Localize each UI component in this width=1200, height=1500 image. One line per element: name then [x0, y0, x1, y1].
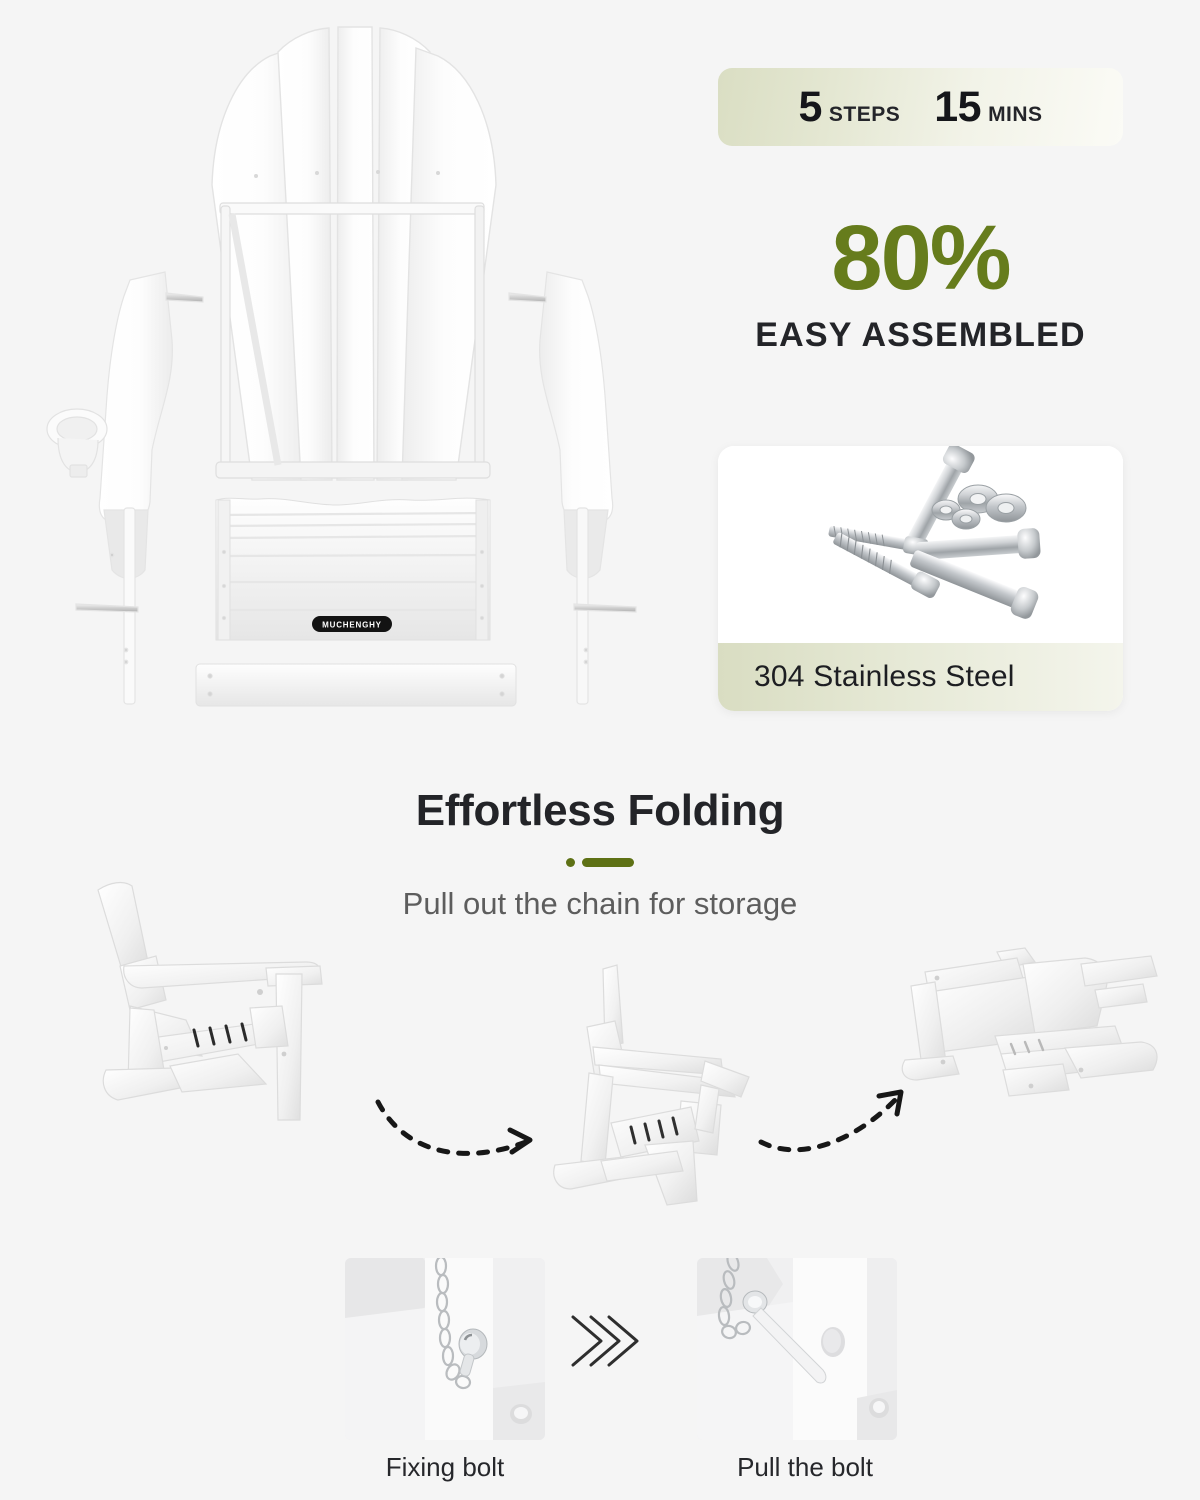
mins-group: 15 MINS — [934, 83, 1042, 132]
chair-right-arm-panel — [509, 272, 636, 704]
chevrons-right-icon — [557, 1305, 647, 1377]
folding-stage-folded-flat — [885, 930, 1175, 1110]
folding-stage-assembled — [70, 870, 390, 1140]
mins-unit: MINS — [988, 103, 1043, 127]
percent-caption: EASY ASSEMBLED — [718, 316, 1123, 355]
steps-value: 5 — [798, 83, 821, 132]
exploded-chair-diagram: MUCHENGHY — [20, 10, 680, 740]
cup-holder-ring — [47, 409, 107, 477]
screw-hole — [869, 1398, 889, 1418]
steps-group: 5 STEPS — [798, 83, 900, 132]
brand-label-pill: MUCHENGHY — [312, 616, 392, 632]
steel-caption: 304 Stainless Steel — [718, 643, 1123, 711]
detail-label-pull-the-bolt: Pull the bolt — [675, 1452, 935, 1483]
percent-value: 80% — [718, 212, 1123, 304]
svg-text:MUCHENGHY: MUCHENGHY — [322, 621, 382, 630]
empty-hole — [821, 1327, 845, 1357]
title-divider — [0, 858, 1200, 867]
detail-label-fixing-bolt: Fixing bolt — [315, 1452, 575, 1483]
mins-value: 15 — [934, 83, 981, 132]
steps-time-badge: 5 STEPS 15 MINS — [718, 68, 1123, 146]
pull-the-bolt-photo — [697, 1258, 897, 1440]
divider-bar — [582, 858, 634, 867]
steps-unit: STEPS — [829, 103, 900, 127]
chair-left-arm-panel — [76, 272, 203, 704]
product-infographic: MUCHENGHY 5 STEPS 15 MINS 80% EASY ASSEM… — [0, 0, 1200, 1500]
fixing-bolt-photo — [345, 1258, 545, 1440]
dashed-arrow-1-icon — [370, 1090, 550, 1180]
easy-assembled-block: 80% EASY ASSEMBLED — [718, 212, 1123, 355]
hardware-photo — [718, 446, 1123, 643]
divider-dot — [566, 858, 575, 867]
screw-hole — [510, 1404, 532, 1424]
chair-back-slats — [212, 27, 496, 480]
chair-front-rail — [196, 664, 516, 706]
section-title: Effortless Folding — [0, 786, 1200, 836]
stainless-steel-card: 304 Stainless Steel — [718, 446, 1123, 711]
